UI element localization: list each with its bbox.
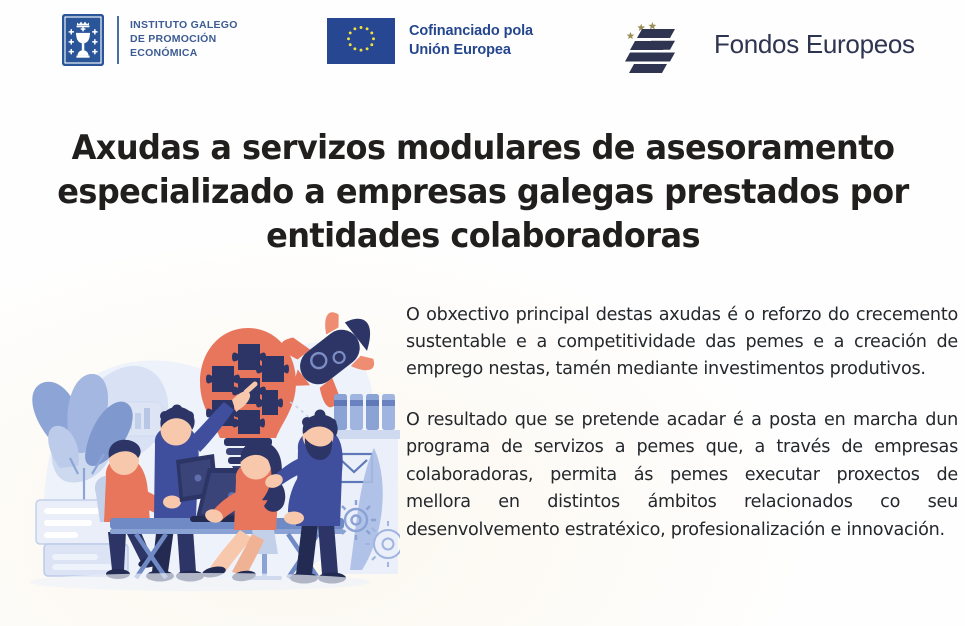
logo-bar: INSTITUTO GALEGO DE PROMOCIÓN ECONÓMICA (0, 0, 965, 88)
fondos-europeos-label: Fondos Europeos (714, 29, 915, 60)
igape-logo: INSTITUTO GALEGO DE PROMOCIÓN ECONÓMICA (62, 14, 238, 66)
fondos-europeos-mark-icon (618, 10, 706, 78)
igape-logo-label: INSTITUTO GALEGO DE PROMOCIÓN ECONÓMICA (130, 19, 238, 61)
flyer-page: INSTITUTO GALEGO DE PROMOCIÓN ECONÓMICA (0, 0, 965, 626)
fondos-europeos-logo: Fondos Europeos (618, 10, 915, 78)
eu-logo: Cofinanciado pola Unión Europea (327, 18, 533, 64)
eu-logo-label: Cofinanciado pola Unión Europea (409, 22, 533, 60)
european-union-flag-icon (327, 18, 395, 64)
body-copy: O obxectivo principal destas axudas é o … (406, 284, 958, 562)
paragraph-result: O resultado que se pretende acadar é a p… (406, 407, 958, 544)
logo-divider (117, 16, 119, 64)
team-collaboration-illustration (0, 282, 400, 626)
page-title: Axudas a servizos modulares de asesorame… (54, 126, 912, 258)
xunta-de-galicia-coat-of-arms-icon (62, 14, 104, 66)
paragraph-objective: O obxectivo principal destas axudas é o … (406, 302, 958, 384)
